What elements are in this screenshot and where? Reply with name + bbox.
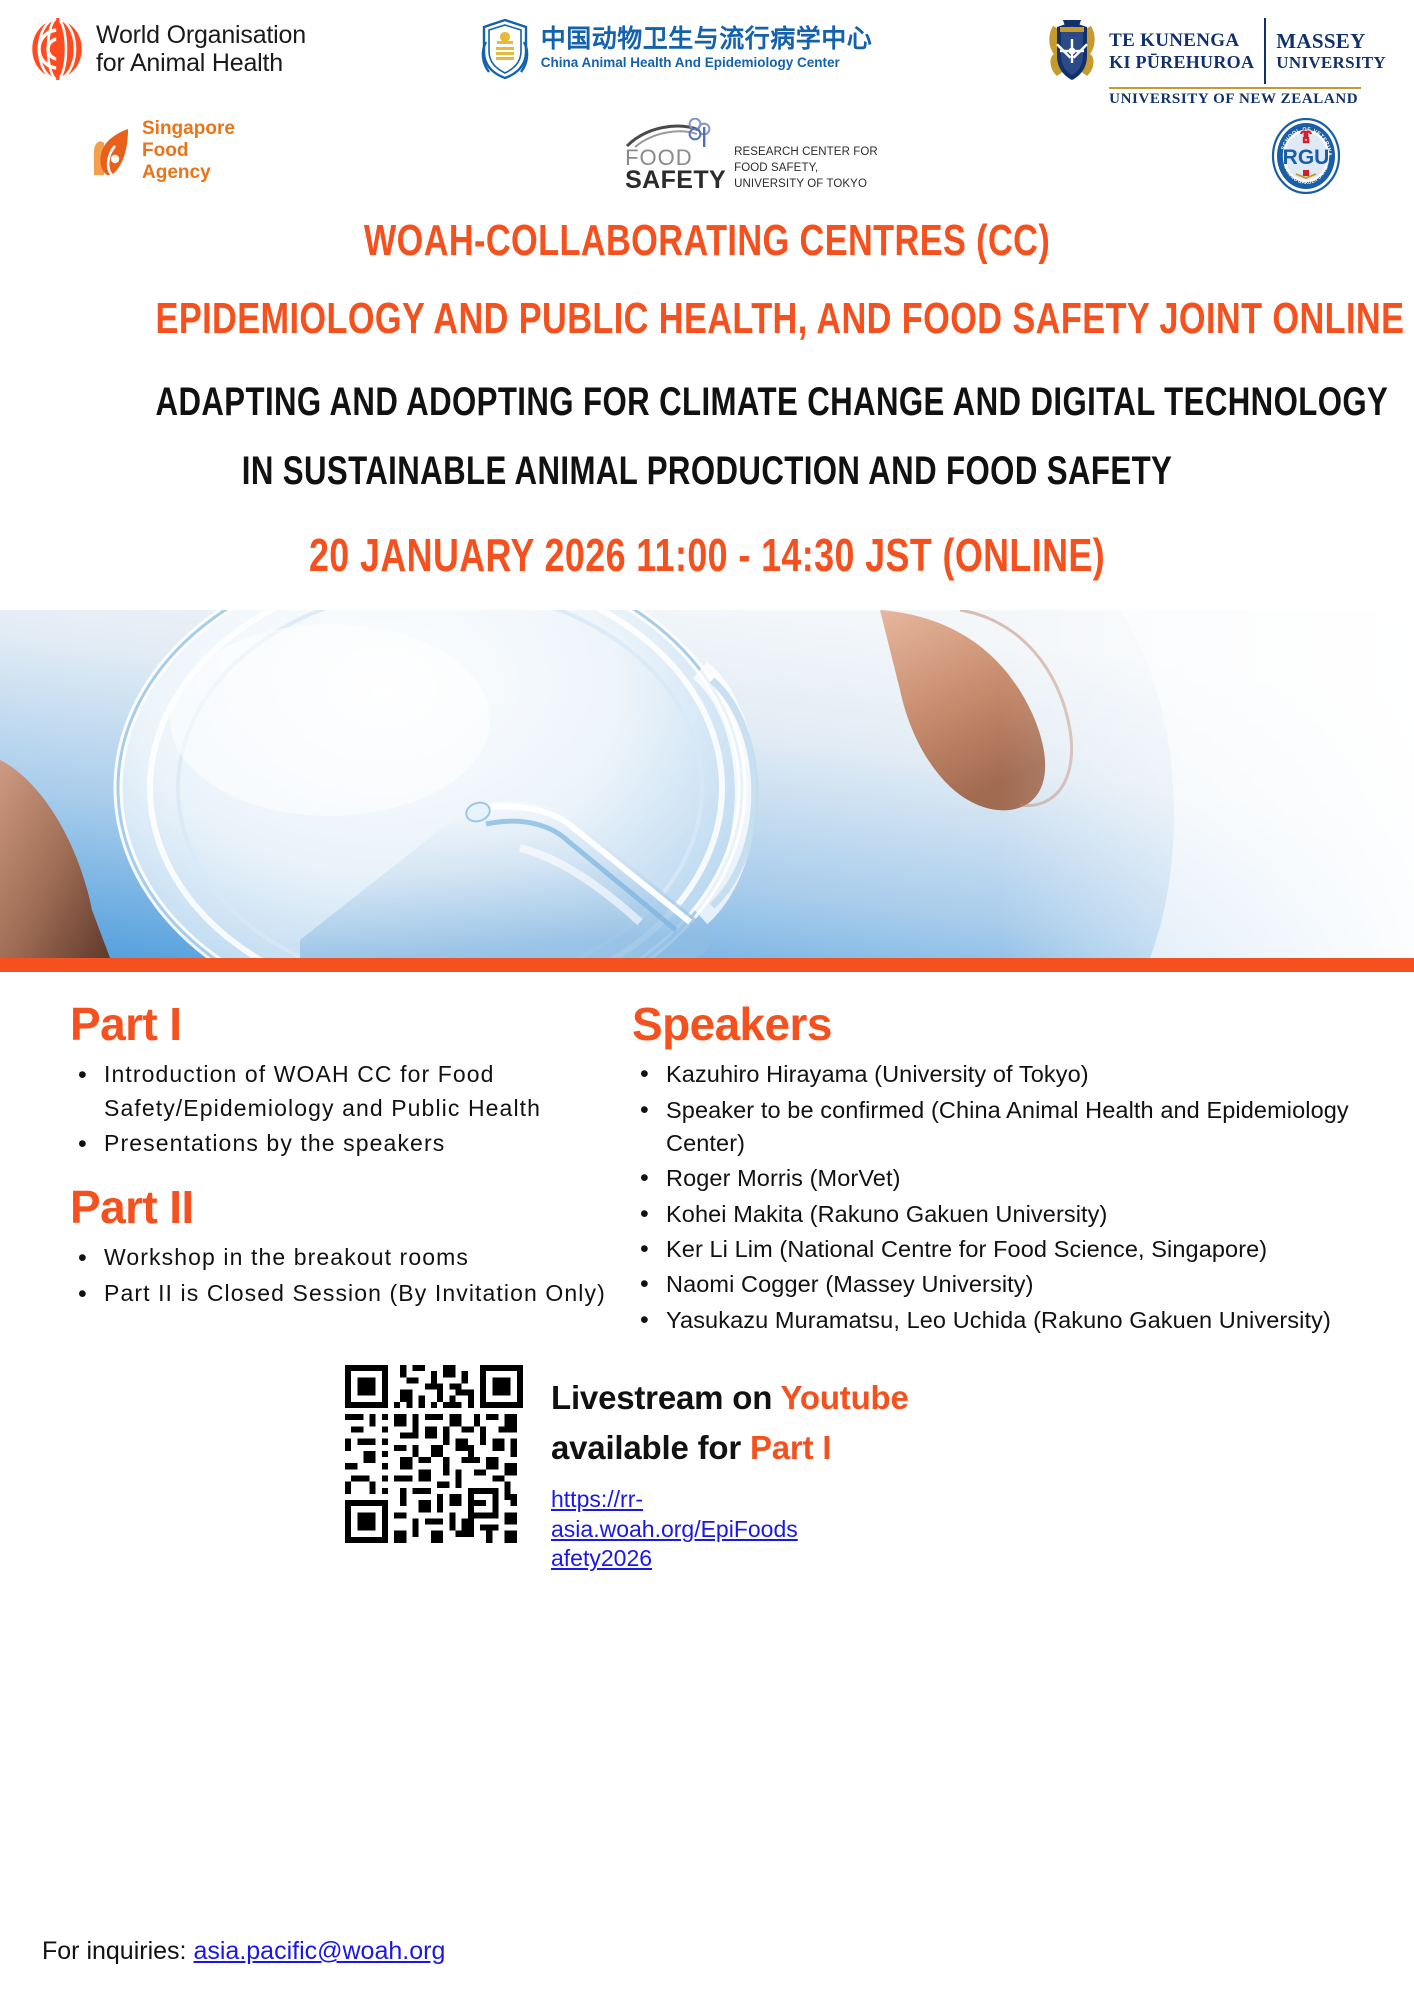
list-item: Introduction of WOAH CC for Food Safety/… bbox=[70, 1058, 610, 1125]
list-item: Naomi Cogger (Massey University) bbox=[632, 1268, 1380, 1301]
livestream-section: Livestream on Youtube available for Part… bbox=[0, 1339, 1414, 1574]
program-column: Part I Introduction of WOAH CC for Food … bbox=[70, 1000, 610, 1339]
food-safety-sub1: RESEARCH CENTER FOR bbox=[734, 144, 878, 160]
livestream-line2-plain: available for bbox=[551, 1429, 750, 1466]
massey-divider bbox=[1264, 18, 1266, 84]
massey-tagline: UNIVERSITY OF NEW ZEALAND bbox=[1109, 91, 1386, 108]
hero-photo bbox=[0, 610, 1414, 958]
workshop-title-line1: WOAH-COLLABORATING CENTRES (CC) bbox=[156, 216, 1259, 266]
main-content: Part I Introduction of WOAH CC for Food … bbox=[0, 972, 1414, 1339]
workshop-subtitle-line1: ADAPTING AND ADOPTING FOR CLIMATE CHANGE… bbox=[156, 380, 1259, 425]
inquiries-footer: For inquiries: asia.pacific@woah.org bbox=[42, 1937, 445, 1966]
rgu-seal-icon: SCHOOL OF VETERINARY MEDICINE RAKUNO GAK… bbox=[1268, 118, 1344, 194]
woah-line2: for Animal Health bbox=[96, 49, 306, 77]
massey-name-line1: MASSEY bbox=[1276, 29, 1386, 53]
livestream-line2: available for Part I bbox=[551, 1423, 909, 1473]
workshop-subtitle-line2: IN SUSTAINABLE ANIMAL PRODUCTION AND FOO… bbox=[156, 449, 1259, 494]
list-item: Part II is Closed Session (By Invitation… bbox=[70, 1277, 610, 1311]
workshop-title-line2: EPIDEMIOLOGY AND PUBLIC HEALTH, AND FOOD… bbox=[156, 294, 1259, 344]
livestream-line1-accent: Youtube bbox=[781, 1379, 909, 1416]
massey-gold-rule bbox=[1109, 87, 1361, 89]
woah-globe-icon bbox=[28, 18, 86, 80]
food-safety-arc-icon bbox=[625, 118, 711, 148]
list-item: Ker Li Lim (National Centre for Food Sci… bbox=[632, 1233, 1380, 1266]
part2-list: Workshop in the breakout rooms Part II i… bbox=[70, 1241, 610, 1310]
massey-maori-line1: TE KUNENGA bbox=[1109, 30, 1254, 52]
woah-wordmark: World Organisation for Animal Health bbox=[96, 21, 306, 77]
massey-maori-name: TE KUNENGA KI PŪREHUROA bbox=[1109, 30, 1254, 73]
speakers-heading: Speakers bbox=[632, 1000, 1380, 1048]
logo-food-safety-tokyo: FOOD SAFETY RESEARCH CENTER FOR FOOD SAF… bbox=[625, 118, 878, 193]
workshop-datetime: 20 JANUARY 2026 11:00 - 14:30 JST (ONLIN… bbox=[156, 528, 1259, 582]
sfa-line1: Singapore bbox=[142, 118, 235, 140]
sfa-line2: Food bbox=[142, 140, 235, 162]
livestream-line1-plain: Livestream on bbox=[551, 1379, 781, 1416]
logo-rakuno-gakuen: SCHOOL OF VETERINARY MEDICINE RAKUNO GAK… bbox=[1268, 118, 1344, 194]
massey-maori-line2: KI PŪREHUROA bbox=[1109, 52, 1254, 73]
food-safety-subtitle: RESEARCH CENTER FOR FOOD SAFETY, UNIVERS… bbox=[734, 144, 878, 193]
massey-name-line2: UNIVERSITY bbox=[1276, 53, 1386, 73]
food-safety-sub3: UNIVERSITY OF TOKYO bbox=[734, 176, 878, 192]
part1-list: Introduction of WOAH CC for Food Safety/… bbox=[70, 1058, 610, 1161]
logo-massey: TE KUNENGA KI PŪREHUROA MASSEY UNIVERSIT… bbox=[1045, 18, 1386, 108]
logo-singapore-food-agency: Singapore Food Agency bbox=[90, 118, 235, 184]
list-item: Kohei Makita (Rakuno Gakuen University) bbox=[632, 1198, 1380, 1231]
logo-row-secondary: Singapore Food Agency FOOD SAFETY bbox=[0, 108, 1414, 194]
sfa-wordmark: Singapore Food Agency bbox=[142, 118, 235, 184]
massey-university-name: MASSEY UNIVERSITY bbox=[1276, 29, 1386, 73]
inquiries-label: For inquiries: bbox=[42, 1937, 193, 1965]
cahec-wordmark: 中国动物卫生与流行病学中心 China Animal Health And Ep… bbox=[541, 26, 873, 72]
list-item: Roger Morris (MorVet) bbox=[632, 1162, 1380, 1195]
food-safety-sub2: FOOD SAFETY, bbox=[734, 160, 878, 176]
logo-woah: World Organisation for Animal Health bbox=[28, 18, 306, 80]
sponsor-logo-band: World Organisation for Animal Health 中国动… bbox=[0, 0, 1414, 194]
livestream-line2-accent: Part I bbox=[750, 1429, 831, 1466]
cahec-english-name: China Animal Health And Epidemiology Cen… bbox=[541, 54, 873, 72]
logo-row-primary: World Organisation for Animal Health 中国动… bbox=[0, 18, 1414, 108]
list-item: Presentations by the speakers bbox=[70, 1127, 610, 1161]
title-block: WOAH-COLLABORATING CENTRES (CC) EPIDEMIO… bbox=[0, 216, 1414, 582]
part2-heading: Part II bbox=[70, 1183, 610, 1231]
logo-cahec: 中国动物卫生与流行病学中心 China Animal Health And Ep… bbox=[479, 18, 873, 80]
part1-heading: Part I bbox=[70, 1000, 610, 1048]
livestream-line1: Livestream on Youtube bbox=[551, 1373, 909, 1423]
sfa-line3: Agency bbox=[142, 162, 235, 184]
sfa-leaf-icon bbox=[90, 125, 132, 177]
food-safety-safety-text: SAFETY bbox=[625, 169, 726, 193]
cahec-crest-icon bbox=[479, 18, 531, 80]
list-item: Speaker to be confirmed (China Animal He… bbox=[632, 1094, 1380, 1161]
speakers-list: Kazuhiro Hirayama (University of Tokyo) … bbox=[632, 1058, 1380, 1337]
list-item: Kazuhiro Hirayama (University of Tokyo) bbox=[632, 1058, 1380, 1091]
inquiries-email-link[interactable]: asia.pacific@woah.org bbox=[193, 1937, 445, 1965]
livestream-text-block: Livestream on Youtube available for Part… bbox=[551, 1365, 909, 1574]
petri-dish-photo bbox=[0, 610, 1414, 958]
list-item: Yasukazu Muramatsu, Leo Uchida (Rakuno G… bbox=[632, 1304, 1380, 1337]
livestream-url-link[interactable]: https://rr-asia.woah.org/EpiFoodsafety20… bbox=[551, 1485, 801, 1573]
orange-divider-bar bbox=[0, 958, 1414, 972]
list-item: Workshop in the breakout rooms bbox=[70, 1241, 610, 1275]
speakers-column: Speakers Kazuhiro Hirayama (University o… bbox=[632, 1000, 1380, 1339]
cahec-chinese-name: 中国动物卫生与流行病学中心 bbox=[541, 26, 873, 54]
woah-line1: World Organisation bbox=[96, 21, 306, 49]
qr-code-icon[interactable] bbox=[345, 1365, 523, 1543]
massey-crest-icon bbox=[1045, 18, 1099, 84]
